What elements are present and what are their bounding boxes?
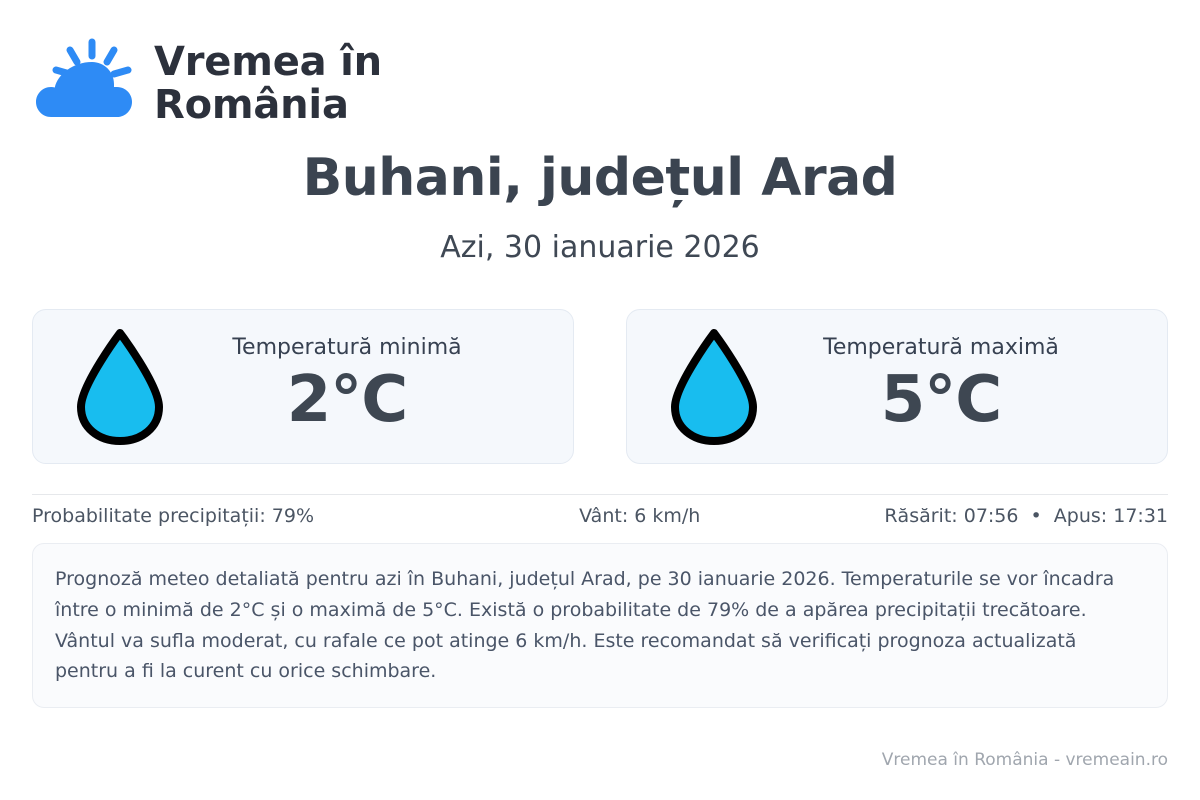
footer-credit: Vremea în România - vremeain.ro bbox=[882, 750, 1168, 770]
temperature-max-body: Temperatură maximă 5°C bbox=[761, 336, 1151, 438]
page-title: Buhani, județul Arad bbox=[32, 148, 1168, 208]
temperature-max-value: 5°C bbox=[761, 364, 1121, 438]
page-subtitle: Azi, 30 ianuarie 2026 bbox=[32, 230, 1168, 265]
sunset-time: Apus: 17:31 bbox=[1054, 505, 1168, 527]
water-drop-icon bbox=[73, 327, 167, 447]
temperature-cards: Temperatură minimă 2°C Temperatură maxim… bbox=[32, 309, 1168, 464]
weather-page: Vremea în România Buhani, județul Arad A… bbox=[0, 0, 1200, 800]
water-drop-icon bbox=[667, 327, 761, 447]
stats-separator: • bbox=[1025, 505, 1048, 527]
forecast-description: Prognoză meteo detaliată pentru azi în B… bbox=[32, 543, 1168, 708]
temperature-min-card: Temperatură minimă 2°C bbox=[32, 309, 574, 464]
sunrise-time: Răsărit: 07:56 bbox=[884, 505, 1018, 527]
sun-times-stat: Răsărit: 07:56 • Apus: 17:31 bbox=[782, 505, 1168, 527]
temperature-min-value: 2°C bbox=[167, 364, 527, 438]
stats-row: Probabilitate precipitații: 79% Vânt: 6 … bbox=[32, 495, 1168, 537]
brand-header: Vremea în România bbox=[32, 0, 1168, 120]
temperature-min-body: Temperatură minimă 2°C bbox=[167, 336, 557, 438]
precipitation-stat: Probabilitate precipitații: 79% bbox=[32, 505, 498, 527]
temperature-max-label: Temperatură maximă bbox=[761, 336, 1121, 360]
sun-behind-cloud-icon bbox=[32, 36, 136, 132]
wind-stat: Vânt: 6 km/h bbox=[498, 505, 782, 527]
temperature-max-card: Temperatură maximă 5°C bbox=[626, 309, 1168, 464]
temperature-min-label: Temperatură minimă bbox=[167, 336, 527, 360]
brand-name: Vremea în România bbox=[154, 41, 382, 127]
